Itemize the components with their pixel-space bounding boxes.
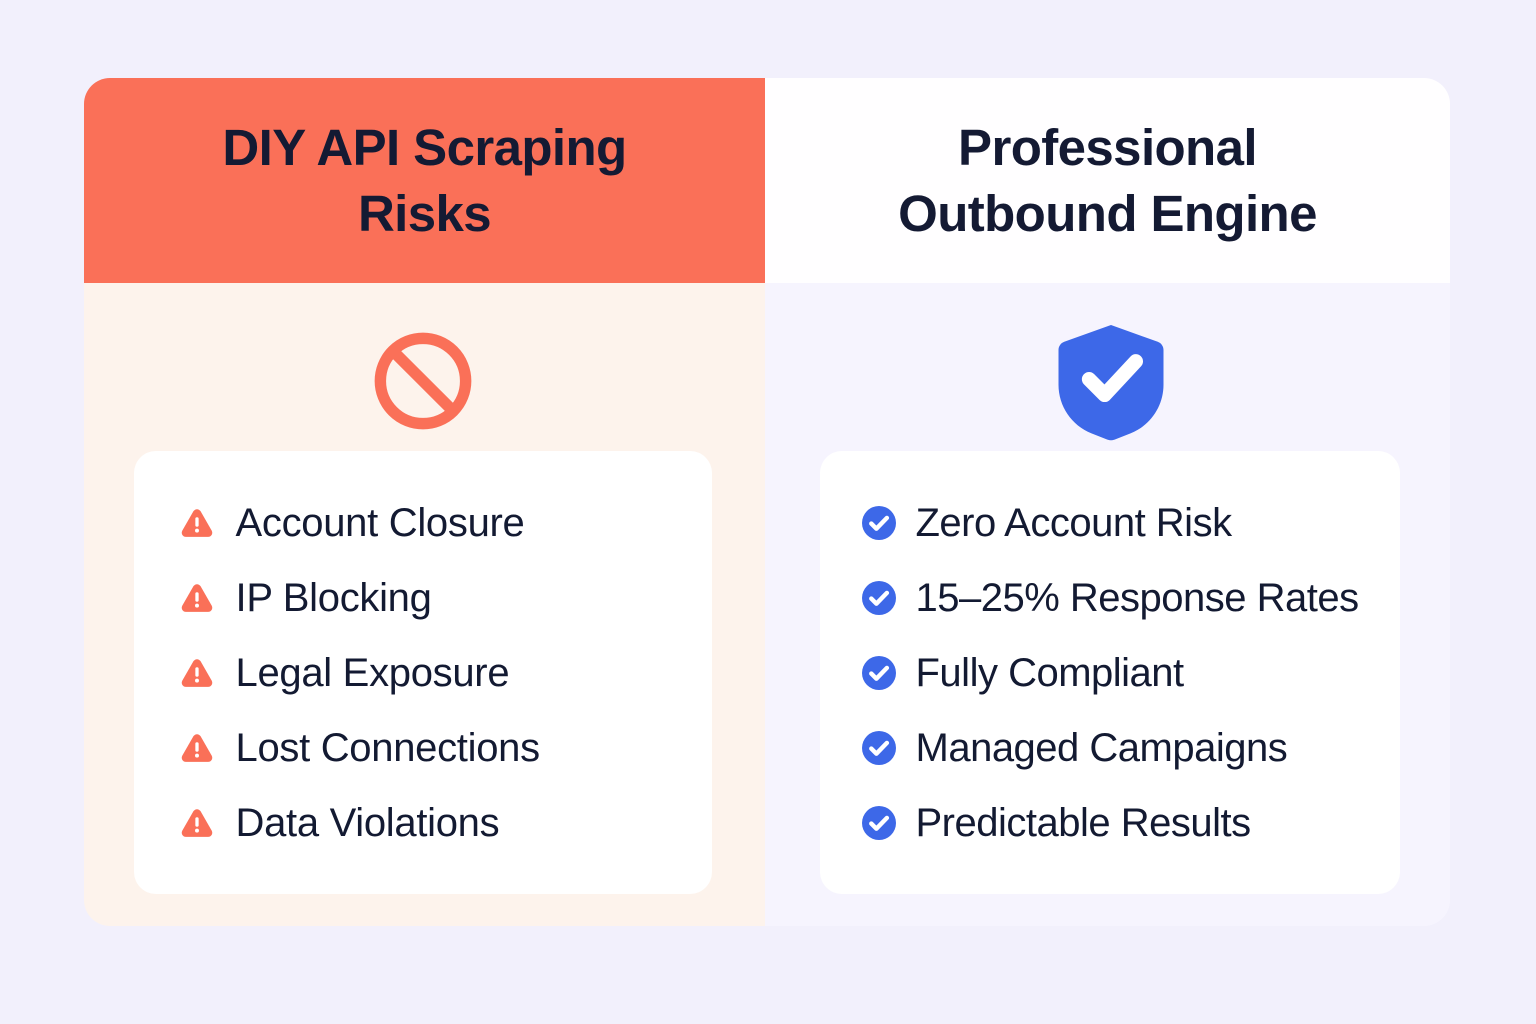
list-item: Predictable Results [860, 785, 1370, 860]
risk-item-label: Data Violations [236, 803, 500, 843]
benefit-list: Zero Account Risk 15–25% Response Rates [860, 485, 1370, 860]
prohibition-icon [371, 311, 475, 451]
benefit-column-body: Zero Account Risk 15–25% Response Rates [765, 283, 1450, 926]
benefit-title-line-2: Outbound Engine [898, 185, 1317, 242]
risk-title-line-1: DIY API Scraping [222, 119, 626, 176]
risk-item-label: Lost Connections [236, 728, 540, 768]
check-circle-icon [860, 504, 898, 542]
list-item: Managed Campaigns [860, 710, 1370, 785]
check-circle-icon [860, 579, 898, 617]
list-item: Zero Account Risk [860, 485, 1370, 560]
benefit-item-label: Predictable Results [916, 803, 1251, 843]
warning-triangle-icon [178, 729, 216, 767]
benefit-item-label: 15–25% Response Rates [916, 578, 1359, 618]
list-item: 15–25% Response Rates [860, 560, 1370, 635]
risk-item-label: Legal Exposure [236, 653, 510, 693]
risk-column-header: DIY API ScrapingRisks [84, 78, 765, 283]
check-circle-icon [860, 804, 898, 842]
risk-list-card: Account Closure IP Blocking [134, 451, 712, 894]
benefit-column-title: ProfessionalOutbound Engine [898, 115, 1317, 246]
warning-triangle-icon [178, 654, 216, 692]
risk-column-title: DIY API ScrapingRisks [222, 115, 626, 246]
check-circle-icon [860, 729, 898, 767]
benefit-item-label: Fully Compliant [916, 653, 1184, 693]
benefit-title-line-1: Professional [958, 119, 1257, 176]
benefit-list-card: Zero Account Risk 15–25% Response Rates [820, 451, 1400, 894]
warning-triangle-icon [178, 804, 216, 842]
benefit-item-label: Zero Account Risk [916, 503, 1232, 543]
risk-title-line-2: Risks [358, 185, 491, 242]
risk-item-label: Account Closure [236, 503, 525, 543]
risk-column-body: Account Closure IP Blocking [84, 283, 765, 926]
check-circle-icon [860, 654, 898, 692]
list-item: Data Violations [178, 785, 672, 860]
warning-triangle-icon [178, 504, 216, 542]
benefit-column: ProfessionalOutbound Engine [765, 78, 1450, 926]
list-item: Legal Exposure [178, 635, 672, 710]
list-item: Account Closure [178, 485, 672, 560]
warning-triangle-icon [178, 579, 216, 617]
comparison-table: DIY API ScrapingRisks [84, 78, 1450, 926]
risk-column: DIY API ScrapingRisks [84, 78, 765, 926]
list-item: IP Blocking [178, 560, 672, 635]
list-item: Fully Compliant [860, 635, 1370, 710]
benefit-item-label: Managed Campaigns [916, 728, 1288, 768]
benefit-column-header: ProfessionalOutbound Engine [765, 78, 1450, 283]
shield-check-icon [1053, 311, 1169, 451]
risk-item-label: IP Blocking [236, 578, 432, 618]
risk-list: Account Closure IP Blocking [178, 485, 672, 860]
list-item: Lost Connections [178, 710, 672, 785]
